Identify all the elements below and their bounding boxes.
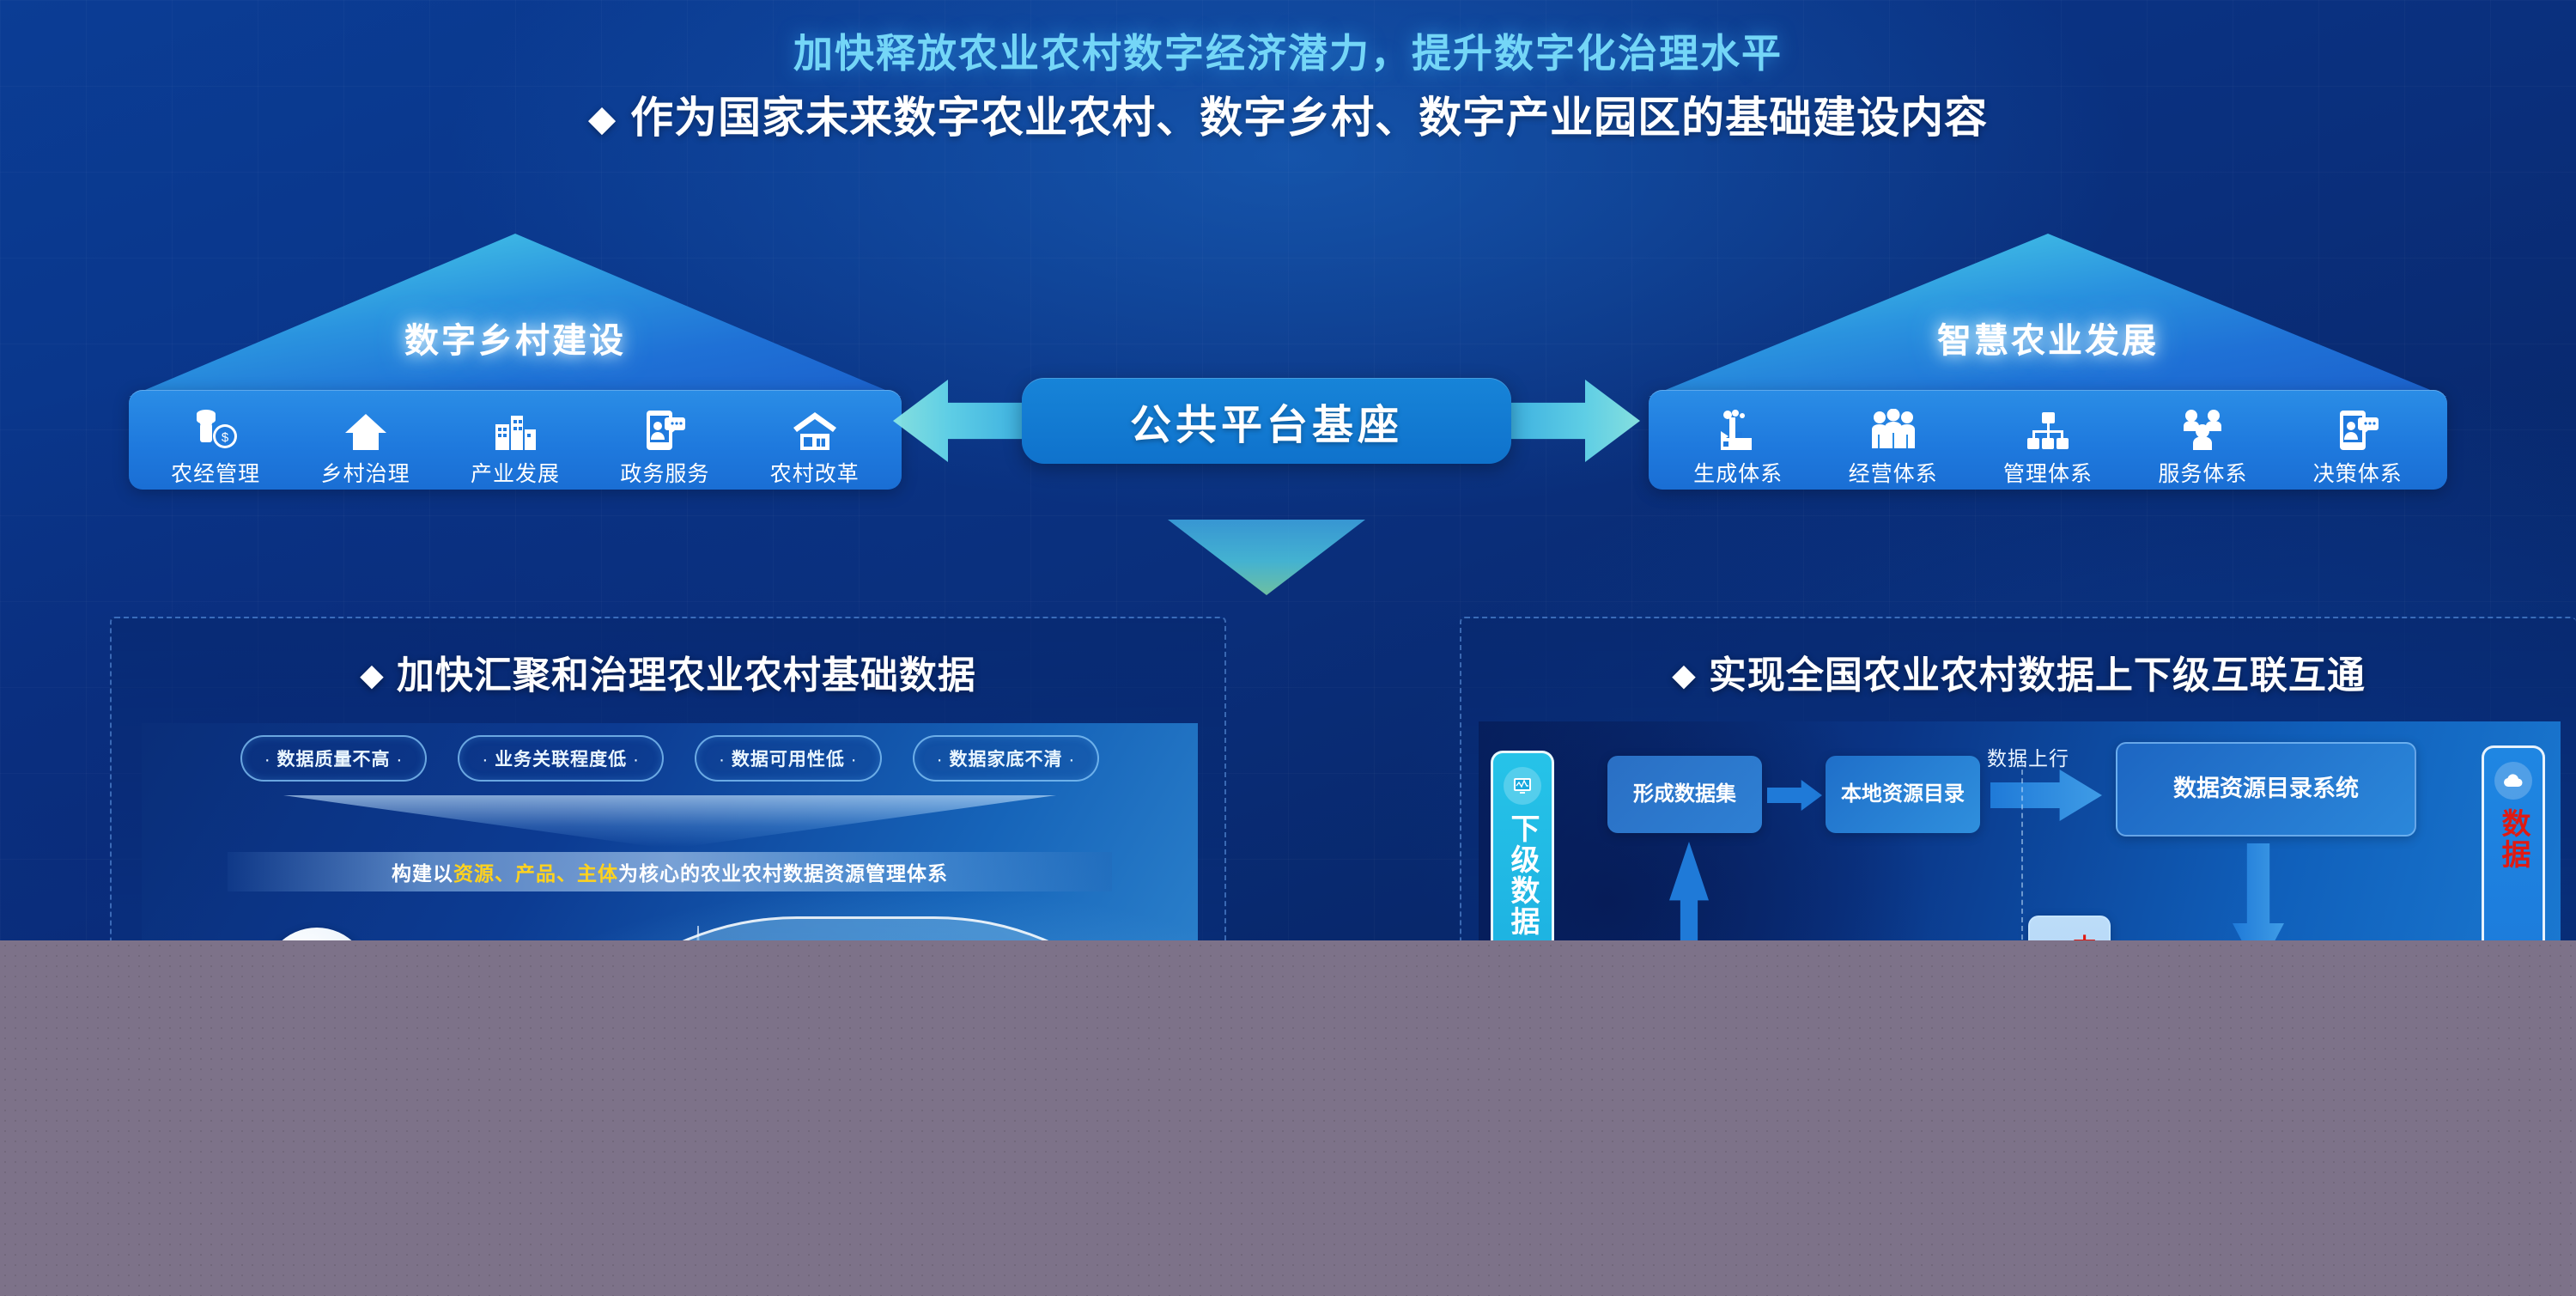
house-item-rural-reform[interactable]: 农村改革 [768,409,862,488]
funnel-shape [283,795,1056,847]
house-item-management-system[interactable]: 管理体系 [2001,409,2095,488]
issue-pill: · 数据可用性低 · [695,735,882,782]
house-item-label: 经营体系 [1849,457,1938,488]
house-item-agri-economy[interactable]: $ 农经管理 [168,409,263,488]
house-item-label: 决策体系 [2313,457,2403,488]
house-roof-label: 数字乡村建设 [129,313,902,362]
house-item-village-governance[interactable]: 乡村治理 [319,409,413,488]
data-cloud-label: 数据 [2497,808,2530,870]
box-form-dataset[interactable]: 形成数据集 [1607,756,1762,833]
house-item-label: 乡村治理 [321,457,410,488]
issue-pill: · 数据质量不高 · [240,735,428,782]
mobile-service-icon [2336,409,2379,452]
house-item-service-system[interactable]: 服务体系 [2155,409,2250,488]
factory-icon [1716,409,1760,452]
box-label: 本地资源目录 [1841,782,1965,807]
house-digital-village: 数字乡村建设 $ 农经管理 乡村治理 产业发展 [129,234,902,491]
buildings-icon [492,409,538,452]
house-roof-label: 智慧农业发展 [1649,313,2447,362]
banner-highlight: 资源、产品、主体 [453,857,618,886]
monitor-chart-icon [1504,767,1541,805]
panel-left-heading-text: 加快汇聚和治理农业农村基础数据 [397,654,976,697]
house-item-label: 农经管理 [171,457,260,488]
house-item-gov-service[interactable]: 政务服务 [617,409,712,488]
arrow-down-icon [1168,520,1365,595]
money-stack-icon: $ [192,409,239,452]
farmhouse-icon [792,409,838,452]
page-subtitle-text: 作为国家未来数字农业农村、数字乡村、数字产业园区的基础建设内容 [630,94,1988,142]
panel-right-heading-text: 实现全国农业农村数据上下级互联互通 [1709,654,2366,697]
data-management-banner: 构建以资源、产品、主体为核心的农业农村数据资源管理体系 [228,852,1112,891]
box-label: 数据资源目录系统 [2173,775,2359,804]
issue-pill-label: 业务关联程度低 [495,750,627,770]
house-icon [343,409,388,452]
page-title: 加快释放农业农村数字经济潜力，提升数字化治理水平 [0,22,2576,79]
org-chart-icon [2026,409,2070,452]
issue-pill: · 业务关联程度低 · [458,735,664,782]
bottom-overlay [0,940,2576,1296]
issue-pill-label: 数据家底不清 [949,750,1062,770]
banner-prefix: 构建以 [392,857,453,886]
house-item-industry-development[interactable]: 产业发展 [468,409,562,488]
house-item-label: 农村改革 [770,457,860,488]
diamond-bullet-icon: ◆ [360,657,385,692]
arrow-right-icon [1503,380,1640,462]
box-local-resource-catalog[interactable]: 本地资源目录 [1826,756,1980,833]
house-item-label: 产业发展 [471,457,560,488]
arrow-upstream-icon [1990,770,2102,821]
public-platform-base-label: 公共平台基座 [1130,391,1403,451]
svg-text:$: $ [222,430,229,445]
issue-pill-label: 数据质量不高 [277,750,391,770]
house-item-label: 生成体系 [1693,457,1783,488]
house-item-production-system[interactable]: 生成体系 [1691,409,1785,488]
lower-level-data-label: 下级数据 [1506,813,1539,937]
mobile-service-icon [643,409,686,452]
cloud-icon [2494,762,2532,800]
house-item-label: 服务体系 [2158,457,2247,488]
issue-pill-label: 数据可用性低 [732,750,845,770]
diamond-bullet-icon: ◆ [1672,657,1697,692]
arrow-form-to-catalog-icon [1767,780,1822,811]
issue-pill-row: · 数据质量不高 · · 业务关联程度低 · · 数据可用性低 · · 数据家底… [142,735,1198,782]
panel-left-heading: ◆加快汇聚和治理农业农村基础数据 [112,644,1224,699]
banner-suffix: 为核心的农业农村数据资源管理体系 [618,857,948,886]
arrow-left-icon [893,380,1030,462]
house-smart-agriculture: 智慧农业发展 生成体系 经营体系 管理体系 [1649,234,2447,491]
issue-pill: · 数据家底不清 · [913,735,1100,782]
people-group-icon [1869,409,1917,452]
flow-label-data-upstream: 数据上行 [1987,742,2069,771]
house-item-label: 政务服务 [620,457,709,488]
panel-right-heading: ◆实现全国农业农村数据上下级互联互通 [1461,644,2576,699]
flow-label-text: 数据上行 [1987,747,2069,770]
box-data-resource-catalog-system[interactable]: 数据资源目录系统 [2116,742,2416,837]
people-network-icon [2180,409,2225,452]
page-subtitle: ◆作为国家未来数字农业农村、数字乡村、数字产业园区的基础建设内容 [0,83,2576,145]
box-label: 形成数据集 [1633,782,1736,807]
house-item-operation-system[interactable]: 经营体系 [1846,409,1941,488]
house-item-decision-system[interactable]: 决策体系 [2311,409,2405,488]
diamond-bullet-icon: ◆ [588,98,617,138]
public-platform-base-pill[interactable]: 公共平台基座 [1022,378,1511,464]
house-icon-row: $ 农经管理 乡村治理 产业发展 政务服务 [129,393,902,488]
house-item-label: 管理体系 [2003,457,2093,488]
house-icon-row: 生成体系 经营体系 管理体系 服务体系 [1649,393,2447,488]
